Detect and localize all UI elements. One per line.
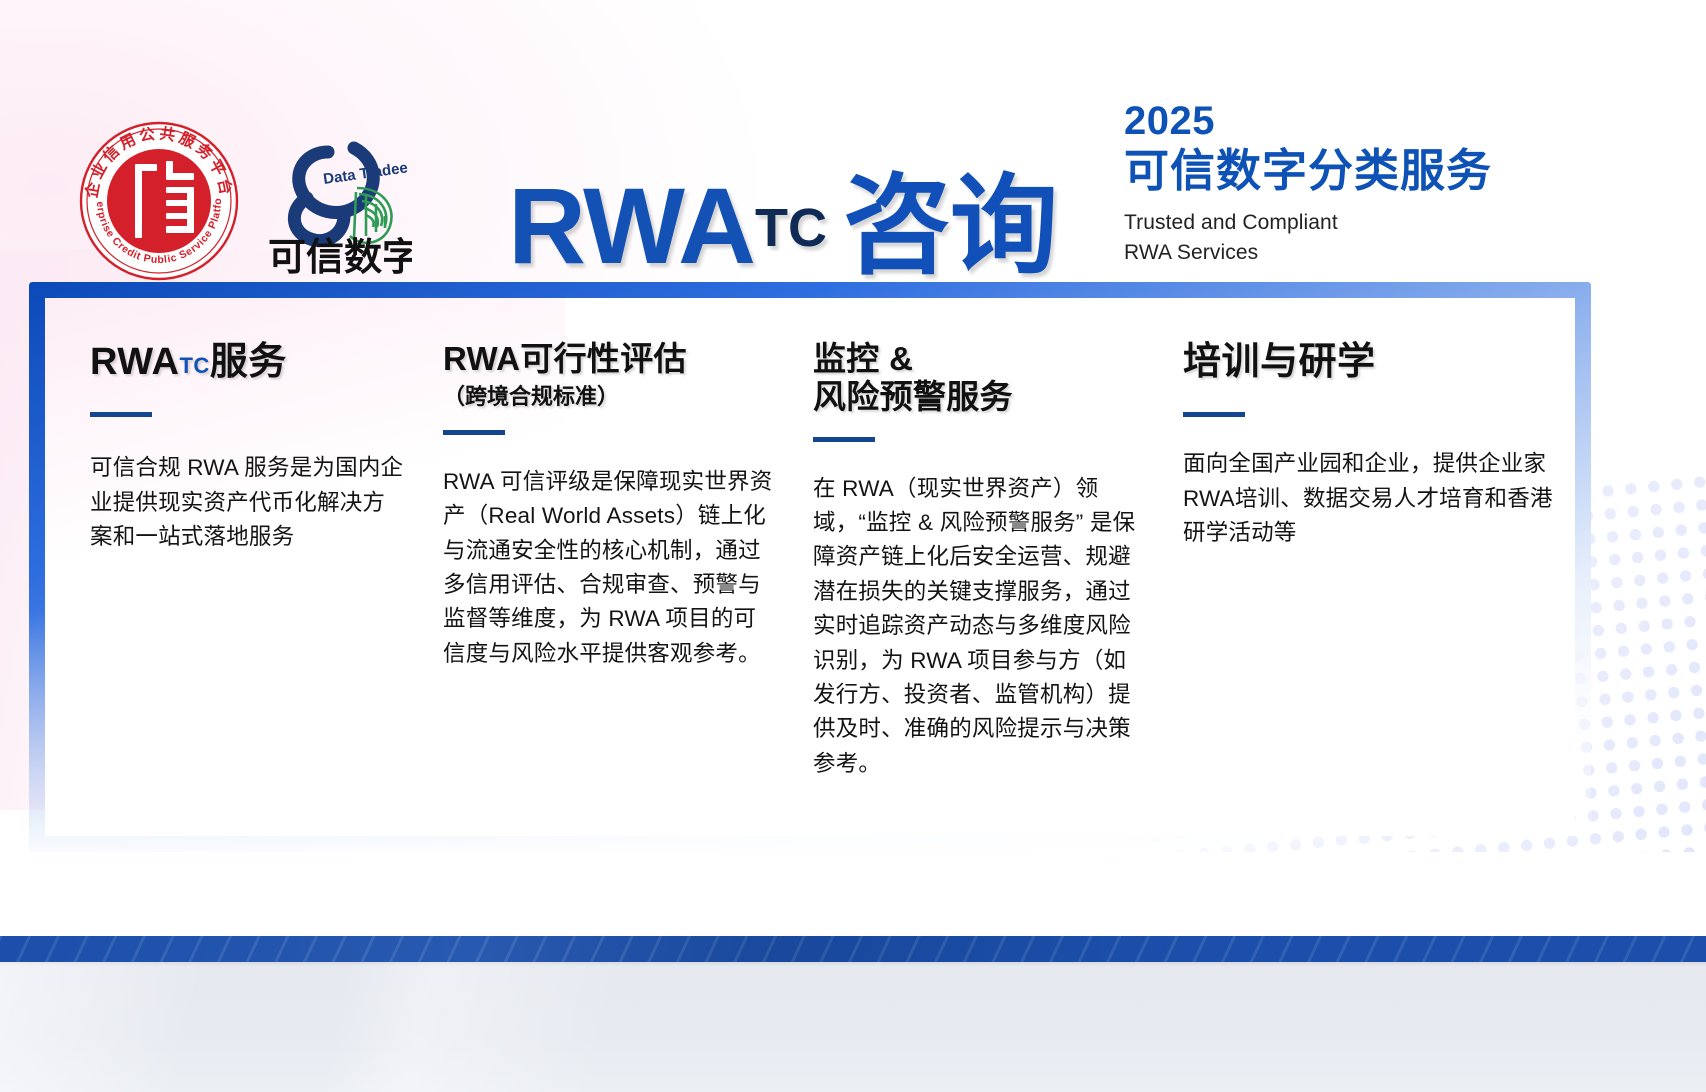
- column-body-text: 面向全国产业园和企业，提供企业家RWA培训、数据交易人才培育和香港研学活动等: [1183, 447, 1557, 550]
- column-heading-post: 服务: [210, 341, 287, 383]
- column-body-text: RWA 可信评级是保障现实世界资产（Real World Assets）链上化与…: [443, 465, 777, 672]
- column-heading-tc: TC: [179, 353, 209, 378]
- logo-group: 企业信用公共服务平台 Enterprise Credit Public Serv…: [78, 120, 412, 282]
- svg-text:可信数字: 可信数字: [268, 235, 412, 276]
- header-en-line1: Trusted and Compliant: [1124, 208, 1492, 238]
- poster-main-title: RWATC咨询: [508, 172, 1057, 280]
- column-body-text: 可信合规 RWA 服务是为国内企业提供现实资产代币化解决方案和一站式落地服务: [90, 451, 407, 554]
- column-rule-divider: [90, 412, 152, 417]
- column-rule-divider: [813, 437, 875, 442]
- column-heading: RWATC服务: [90, 340, 407, 384]
- title-tc-superscript: TC: [755, 198, 827, 258]
- column-heading: RWA可行性评估: [443, 340, 777, 378]
- poster-canvas: 企业信用公共服务平台 Enterprise Credit Public Serv…: [0, 0, 1706, 1092]
- header-right-block: 2025 可信数字分类服务 Trusted and Compliant RWA …: [1124, 100, 1492, 268]
- column-subheading: （跨境合规标准）: [443, 384, 777, 410]
- service-column-training-and-study: 培训与研学 面向全国产业园和企业，提供企业家RWA培训、数据交易人才培育和香港研…: [1165, 298, 1575, 836]
- header-en-line2: RWA Services: [1124, 238, 1492, 268]
- column-rule-divider: [443, 430, 505, 435]
- service-column-rwa-feasibility-assessment: RWA可行性评估 （跨境合规标准） RWA 可信评级是保障现实世界资产（Real…: [425, 298, 795, 836]
- data-tradee-logo-icon: Data Tradee 可信数字: [262, 126, 412, 276]
- header-cn-title: 可信数字分类服务: [1124, 144, 1492, 199]
- enterprise-credit-seal-icon: 企业信用公共服务平台 Enterprise Credit Public Serv…: [78, 120, 240, 282]
- service-column-monitoring-risk-warning: 监控 & 风险预警服务 在 RWA（现实世界资产）领域，“监控 & 风险预警服务…: [795, 298, 1165, 836]
- header-en-subtitle: Trusted and Compliant RWA Services: [1124, 208, 1492, 268]
- column-heading: 培训与研学: [1183, 340, 1557, 384]
- column-body-text: 在 RWA（现实世界资产）领域，“监控 & 风险预警服务” 是保障资产链上化后安…: [813, 472, 1147, 782]
- service-columns: RWATC服务 可信合规 RWA 服务是为国内企业提供现实资产代币化解决方案和一…: [45, 298, 1575, 836]
- column-heading-line1: 监控 &: [813, 340, 1147, 378]
- footer-blue-band: [0, 936, 1706, 962]
- title-rwa: RWA: [508, 165, 755, 286]
- title-cn: 咨询: [843, 165, 1057, 286]
- poster-header: 企业信用公共服务平台 Enterprise Credit Public Serv…: [0, 0, 1706, 290]
- footer-grey-band: [0, 962, 1706, 1092]
- column-rule-divider: [1183, 412, 1245, 417]
- footer-white-gap: [0, 852, 1706, 936]
- service-column-rwa-tc-service: RWATC服务 可信合规 RWA 服务是为国内企业提供现实资产代币化解决方案和一…: [45, 298, 425, 836]
- column-heading-pre: RWA: [90, 341, 179, 383]
- header-year: 2025: [1124, 100, 1492, 142]
- column-heading-line2: 风险预警服务: [813, 378, 1147, 416]
- column-heading: 监控 & 风险预警服务: [813, 340, 1147, 417]
